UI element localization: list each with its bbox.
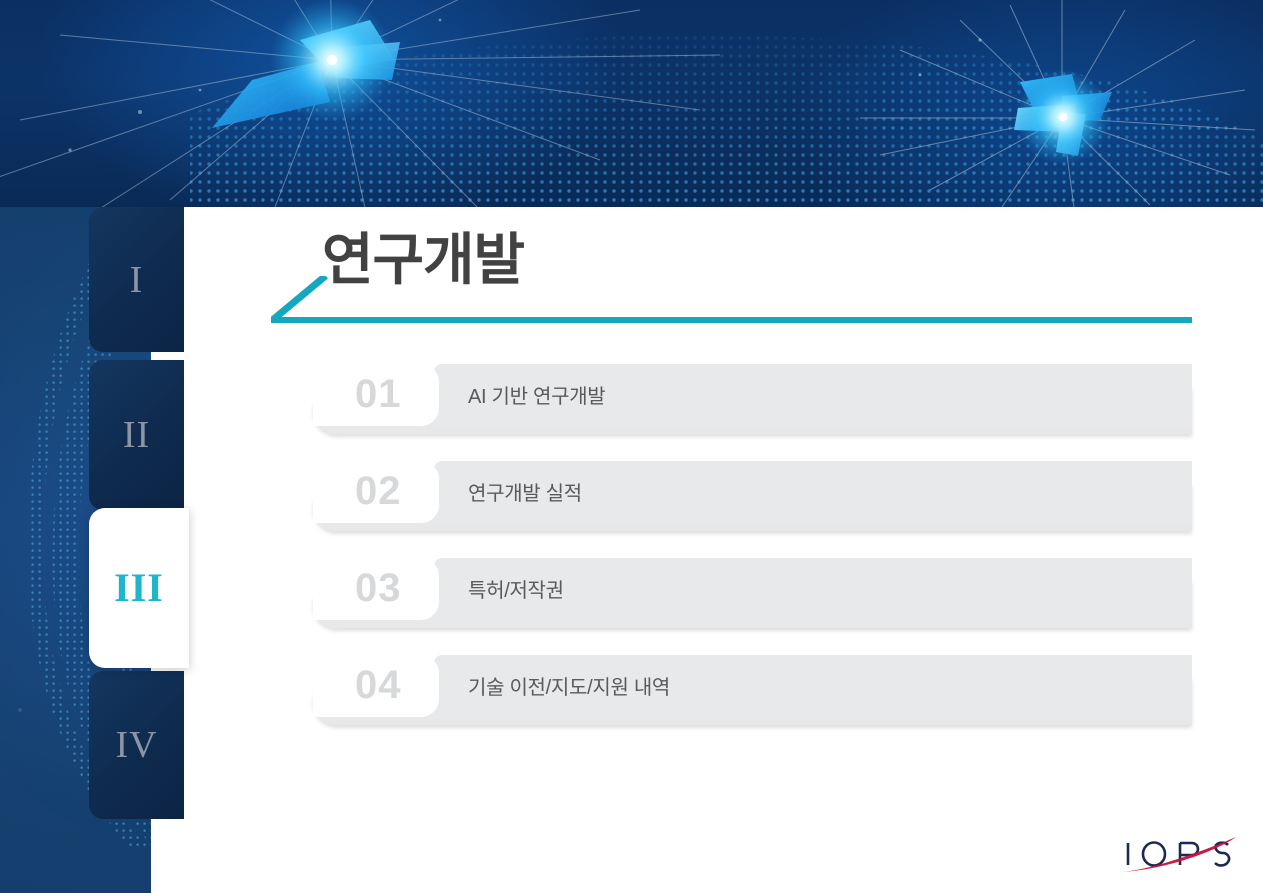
sidebar-tab-1[interactable]: I — [89, 207, 184, 352]
list-item[interactable]: 01 AI 기반 연구개발 — [313, 364, 1193, 461]
sidebar-tab-3-active[interactable]: III — [89, 508, 189, 668]
title-accent-slash-icon — [271, 276, 331, 322]
item-number: 03 — [355, 562, 402, 614]
item-number: 02 — [355, 465, 402, 517]
list-item[interactable]: 03 특허/저작권 — [313, 558, 1193, 655]
sidebar-tab-2[interactable]: II — [89, 360, 184, 510]
sidebar-tab-4-numeral: IV — [115, 726, 157, 764]
item-label: AI 기반 연구개발 — [468, 380, 605, 409]
item-number: 01 — [355, 368, 402, 420]
iops-logo — [1116, 825, 1241, 883]
sidebar-nav: I II III IV — [89, 207, 184, 817]
page-title: 연구개발 — [322, 228, 524, 292]
list-item[interactable]: 02 연구개발 실적 — [313, 461, 1193, 558]
title-underline — [271, 317, 1192, 323]
item-label: 기술 이전/지도/지원 내역 — [468, 671, 670, 700]
agenda-list: 01 AI 기반 연구개발 02 연구개발 실적 03 특허/저작권 04 기술… — [313, 364, 1193, 752]
item-label: 연구개발 실적 — [468, 477, 582, 506]
slide-title-block: 연구개발 — [271, 228, 1192, 323]
item-label: 특허/저작권 — [468, 574, 564, 603]
item-number: 04 — [355, 659, 402, 711]
presentation-slide: I II III IV 연구개발 01 AI 기반 연구개발 — [0, 0, 1263, 893]
list-item[interactable]: 04 기술 이전/지도/지원 내역 — [313, 655, 1193, 752]
sidebar-tab-4[interactable]: IV — [89, 671, 184, 819]
tech-network-banner — [0, 0, 1263, 207]
sidebar-tab-2-numeral: II — [123, 416, 150, 454]
sidebar-tab-1-numeral: I — [130, 261, 144, 299]
sidebar-tab-3-numeral: III — [114, 568, 164, 608]
